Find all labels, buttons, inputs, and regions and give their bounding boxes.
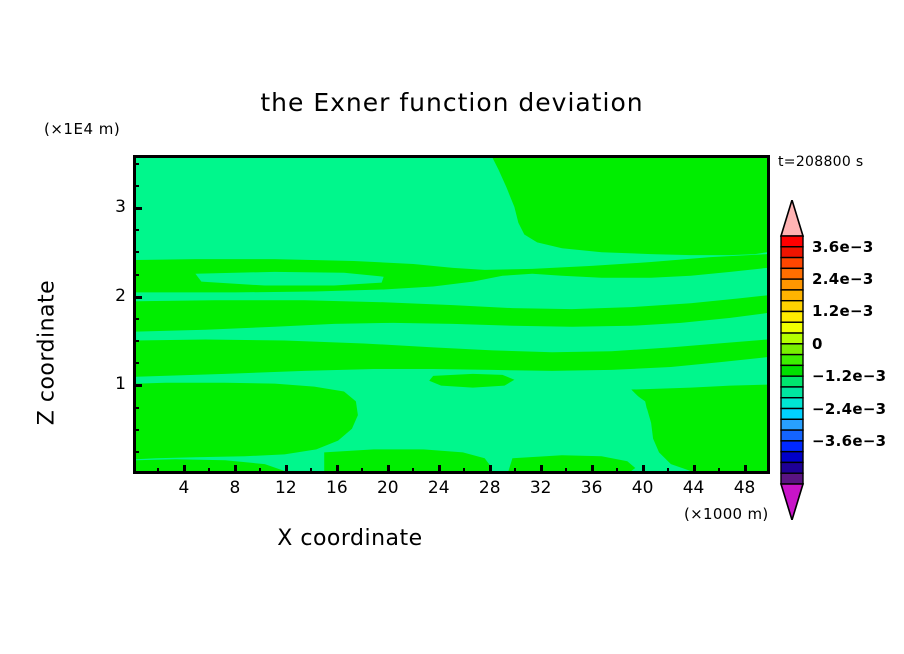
colorbar-band — [781, 365, 803, 376]
x-axis-tick-minor — [259, 468, 261, 474]
x-axis-tick-major — [744, 465, 747, 474]
x-axis-tick-major — [387, 465, 390, 474]
y-axis-tick-major — [133, 296, 142, 299]
colorbar — [779, 200, 805, 520]
colorbar-band — [781, 441, 803, 452]
x-axis-tick-minor — [718, 468, 720, 474]
x-axis-tick-major — [591, 465, 594, 474]
colorbar-band — [781, 333, 803, 344]
colorbar-band — [781, 279, 803, 290]
y-axis-tick-minor — [133, 163, 139, 165]
y-axis-unit-label: (×1E4 m) — [44, 120, 120, 138]
y-axis-tick-major — [133, 384, 142, 387]
y-axis-tick-minor — [133, 451, 139, 453]
x-axis-tick-major — [540, 465, 543, 474]
contour-plot-area — [133, 155, 770, 474]
x-axis-unit-label: (×1000 m) — [684, 505, 769, 523]
colorbar-band — [781, 409, 803, 420]
colorbar-swatches — [779, 200, 805, 520]
y-axis-tick-label: 3 — [86, 197, 126, 217]
y-axis-tick-label: 1 — [86, 374, 126, 394]
contour-field — [136, 158, 767, 471]
colorbar-band — [781, 376, 803, 387]
x-axis-tick-minor — [565, 468, 567, 474]
colorbar-tick-label: 3.6e−3 — [812, 238, 874, 256]
colorbar-band — [781, 236, 803, 247]
timestamp-label: t=208800 s — [778, 154, 863, 170]
colorbar-band — [781, 430, 803, 441]
y-axis-title: Z coordinate — [35, 243, 60, 463]
y-axis-tick-minor — [133, 229, 139, 231]
x-axis-tick-major — [642, 465, 645, 474]
x-axis-tick-minor — [310, 468, 312, 474]
x-axis-tick-minor — [208, 468, 210, 474]
x-axis-tick-minor — [616, 468, 618, 474]
x-axis-tick-minor — [667, 468, 669, 474]
y-axis-tick-minor — [133, 274, 139, 276]
x-axis-tick-major — [336, 465, 339, 474]
colorbar-band — [781, 398, 803, 409]
colorbar-band — [781, 268, 803, 279]
x-axis-tick-label: 48 — [715, 478, 775, 498]
colorbar-tick-label: 2.4e−3 — [812, 270, 874, 288]
x-axis-tick-major — [183, 465, 186, 474]
colorbar-tick-label: −1.2e−3 — [812, 367, 886, 385]
colorbar-band — [781, 311, 803, 322]
colorbar-band — [781, 301, 803, 312]
y-axis-tick-minor — [133, 185, 139, 187]
colorbar-band — [781, 258, 803, 269]
page-title: the Exner function deviation — [0, 88, 904, 117]
y-axis-tick-minor — [133, 407, 139, 409]
colorbar-band — [781, 473, 803, 484]
y-axis-tick-minor — [133, 429, 139, 431]
x-axis-tick-major — [234, 465, 237, 474]
y-axis-tick-minor — [133, 362, 139, 364]
colorbar-band — [781, 290, 803, 301]
y-axis-tick-minor — [133, 251, 139, 253]
x-axis-tick-major — [489, 465, 492, 474]
x-axis-tick-minor — [157, 468, 159, 474]
x-axis-tick-major — [693, 465, 696, 474]
x-axis-tick-major — [285, 465, 288, 474]
colorbar-tick-label: −2.4e−3 — [812, 400, 886, 418]
colorbar-tick-label: 0 — [812, 335, 823, 353]
x-axis-tick-minor — [463, 468, 465, 474]
x-axis-tick-major — [438, 465, 441, 474]
colorbar-band — [781, 462, 803, 473]
colorbar-band — [781, 322, 803, 333]
colorbar-band — [781, 419, 803, 430]
x-axis-tick-minor — [361, 468, 363, 474]
y-axis-tick-minor — [133, 318, 139, 320]
y-axis-tick-minor — [133, 340, 139, 342]
colorbar-tick-label: 1.2e−3 — [812, 302, 874, 320]
colorbar-band — [781, 247, 803, 258]
x-axis-tick-minor — [412, 468, 414, 474]
x-axis-title: X coordinate — [0, 526, 700, 551]
colorbar-band — [781, 355, 803, 366]
y-axis-tick-major — [133, 207, 142, 210]
x-axis-tick-minor — [514, 468, 516, 474]
colorbar-tick-label: −3.6e−3 — [812, 432, 886, 450]
colorbar-band — [781, 344, 803, 355]
y-axis-tick-label: 2 — [86, 286, 126, 306]
colorbar-band — [781, 387, 803, 398]
colorbar-band — [781, 452, 803, 463]
